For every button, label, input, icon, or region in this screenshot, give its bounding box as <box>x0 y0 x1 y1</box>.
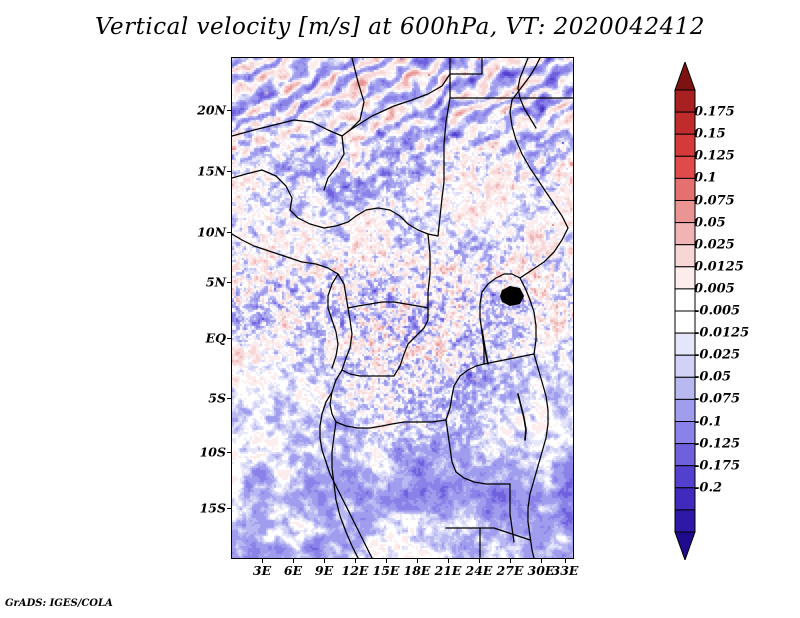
colorbar-swatch <box>675 466 695 488</box>
x-axis-tick <box>565 558 566 563</box>
y-axis-label-5N: 5N <box>186 275 226 290</box>
colorbar-swatch <box>675 289 695 311</box>
colorbar-swatch <box>675 90 695 112</box>
y-axis-label-10S: 10S <box>186 445 226 460</box>
grads-credit: GrADS: IGES/COLA <box>5 598 113 609</box>
y-axis-label-20N: 20N <box>186 103 226 118</box>
x-axis-label-27E: 27E <box>497 563 524 578</box>
colorbar-swatch <box>675 377 695 399</box>
colorbar-swatch <box>675 510 695 532</box>
y-axis-tick <box>227 171 232 172</box>
colorbar-tick-label: -0.075 <box>694 392 740 407</box>
colorbar-swatch <box>675 223 695 245</box>
y-axis-tick <box>227 508 232 509</box>
colorbar-tick-label: -0.175 <box>694 458 740 473</box>
colorbar-swatch <box>675 112 695 134</box>
colorbar-swatch <box>675 311 695 333</box>
x-axis-tick <box>510 558 511 563</box>
colorbar-tick-label: 0.075 <box>694 193 735 208</box>
x-axis-tick <box>324 558 325 563</box>
x-axis-label-9E: 9E <box>315 563 333 578</box>
colorbar-swatch <box>675 201 695 223</box>
colorbar-tick-label: -0.05 <box>694 370 731 385</box>
x-axis-label-21E: 21E <box>435 563 462 578</box>
x-axis-tick <box>541 558 542 563</box>
y-axis-tick <box>227 232 232 233</box>
x-axis-label-30E: 30E <box>528 563 555 578</box>
colorbar-tick-label: -0.0125 <box>694 326 749 341</box>
colorbar-tick-label: 0.025 <box>694 237 735 252</box>
y-axis-label-EQ: EQ <box>186 331 226 346</box>
colorbar-swatch <box>675 134 695 156</box>
map-plot-area <box>231 57 574 559</box>
colorbar-tick-label: -0.125 <box>694 436 740 451</box>
x-axis-tick <box>479 558 480 563</box>
colorbar-min-arrow <box>675 532 695 560</box>
colorbar-swatch <box>675 422 695 444</box>
colorbar-swatch <box>675 355 695 377</box>
x-axis-tick <box>417 558 418 563</box>
x-axis-label-12E: 12E <box>342 563 369 578</box>
colorbar-tick-label: 0.125 <box>694 149 735 164</box>
colorbar-swatch <box>675 444 695 466</box>
colorbar-tick-label: 0.15 <box>694 127 726 142</box>
colorbar-swatch <box>675 156 695 178</box>
x-axis-label-6E: 6E <box>284 563 302 578</box>
x-axis-label-24E: 24E <box>466 563 493 578</box>
x-axis-tick <box>355 558 356 563</box>
colorbar-max-arrow <box>675 62 695 90</box>
x-axis-tick <box>386 558 387 563</box>
colorbar-tick-label: -0.1 <box>694 414 722 429</box>
vertical-velocity-heatmap <box>232 58 573 558</box>
colorbar-tick-label: 0.1 <box>694 171 717 186</box>
x-axis-label-18E: 18E <box>404 563 431 578</box>
colorbar-tick-label: 0.0125 <box>694 259 744 274</box>
colorbar-tick-label: 0.175 <box>694 105 735 120</box>
x-axis-label-15E: 15E <box>373 563 400 578</box>
x-axis-label-33E: 33E <box>552 563 579 578</box>
colorbar-swatch <box>675 245 695 267</box>
colorbar-swatch <box>675 333 695 355</box>
y-axis-label-5S: 5S <box>186 391 226 406</box>
y-axis-tick <box>227 110 232 111</box>
x-axis-tick <box>448 558 449 563</box>
colorbar-tick-label: -0.005 <box>694 304 740 319</box>
colorbar-legend: 0.1750.150.1250.10.0750.050.0250.01250.0… <box>673 62 770 560</box>
colorbar-tick-label: -0.025 <box>694 348 740 363</box>
y-axis-label-15N: 15N <box>186 164 226 179</box>
y-axis-tick <box>227 398 232 399</box>
colorbar-swatch <box>675 399 695 421</box>
colorbar-tick-label: 0.005 <box>694 281 735 296</box>
colorbar-swatch <box>675 267 695 289</box>
y-axis-label-10N: 10N <box>186 225 226 240</box>
colorbar-tick-label: 0.05 <box>694 215 726 230</box>
y-axis-tick <box>227 452 232 453</box>
y-axis-label-15S: 15S <box>186 501 226 516</box>
x-axis-label-3E: 3E <box>253 563 271 578</box>
colorbar-swatch <box>675 488 695 510</box>
page-title: Vertical velocity [m/s] at 600hPa, VT: 2… <box>0 14 800 40</box>
y-axis-tick <box>227 282 232 283</box>
colorbar-tick-label: -0.2 <box>694 480 722 495</box>
y-axis-tick <box>227 338 232 339</box>
x-axis-tick <box>262 558 263 563</box>
x-axis-tick <box>293 558 294 563</box>
colorbar-swatch <box>675 178 695 200</box>
